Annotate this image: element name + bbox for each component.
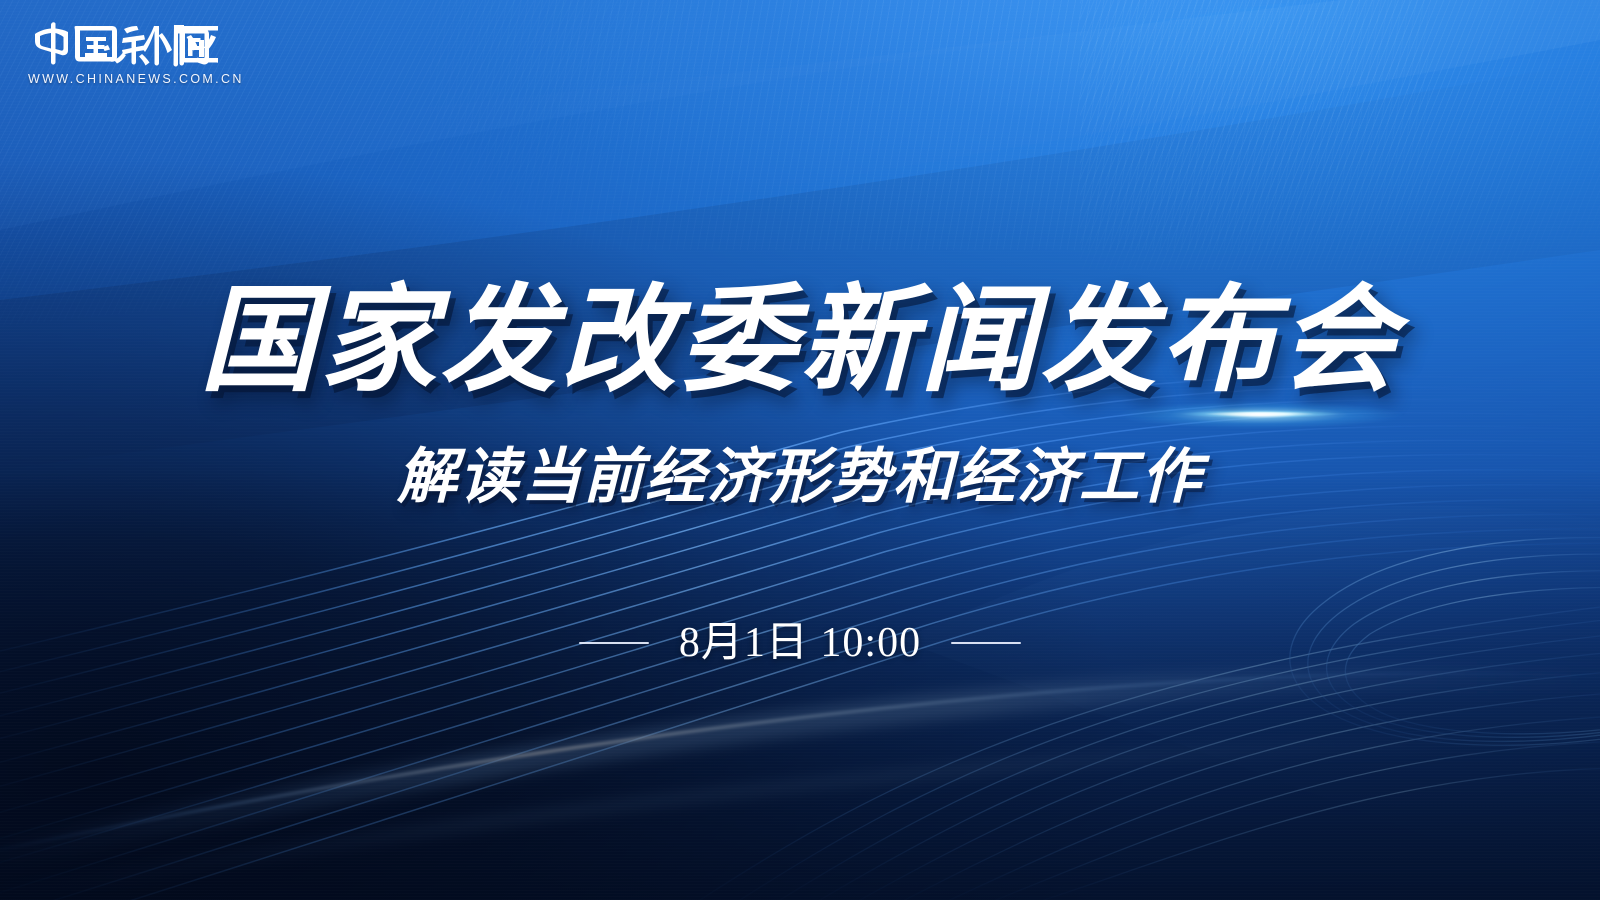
rule-right: [951, 642, 1021, 644]
page-subtitle: 解读当前经济形势和经济工作: [0, 447, 1600, 507]
rule-left: [579, 642, 649, 644]
lens-flare-core: [1180, 410, 1340, 418]
chinanews-logo[interactable]: WWW.CHINANEWS.COM.CN: [28, 14, 258, 86]
chinanews-logo-icon: [28, 14, 218, 68]
logo-url: WWW.CHINANEWS.COM.CN: [28, 72, 258, 86]
event-datetime: 8月1日 10:00: [679, 622, 921, 664]
news-conference-poster: WWW.CHINANEWS.COM.CN 国家发改委新闻发布会 解读当前经济形势…: [0, 0, 1600, 900]
datetime-row: 8月1日 10:00: [0, 622, 1600, 664]
page-title: 国家发改委新闻发布会: [0, 282, 1600, 398]
